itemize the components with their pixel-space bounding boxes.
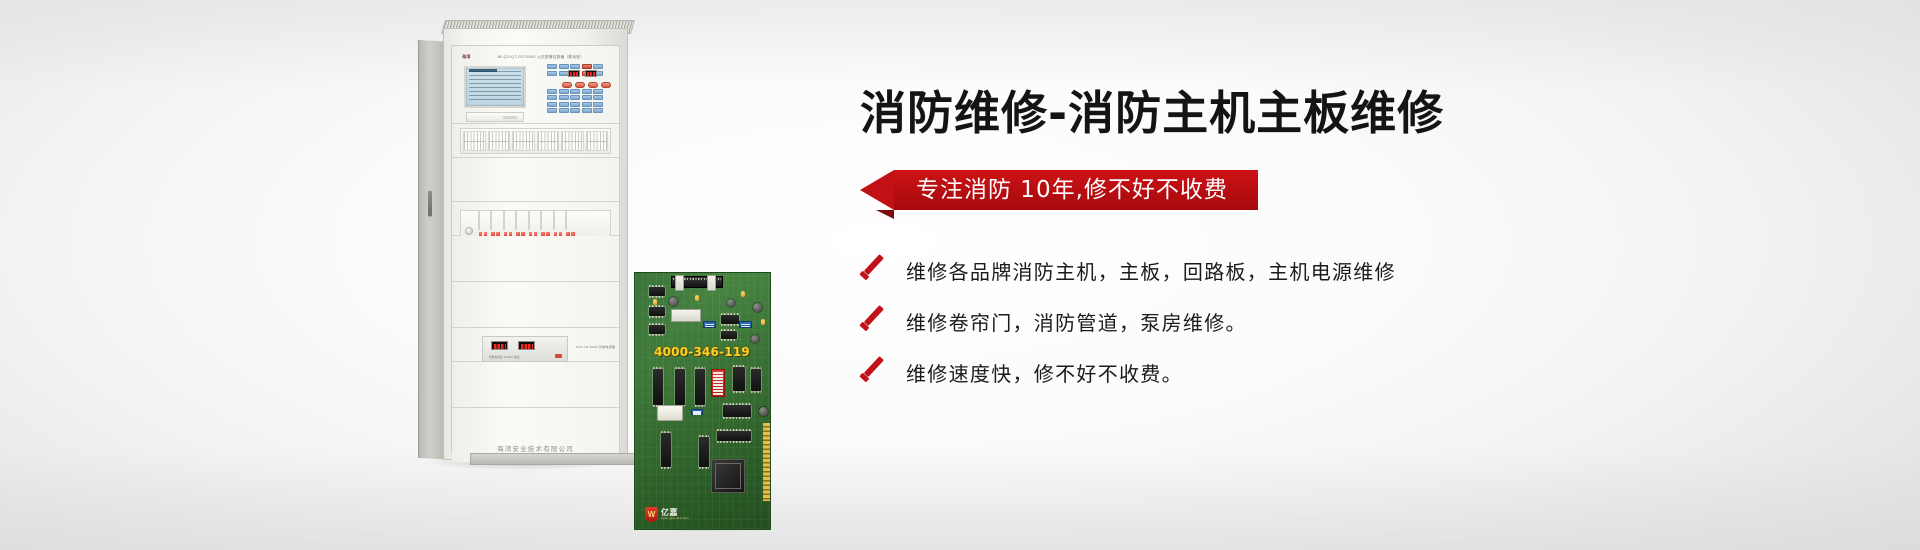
pcb-dip-switch-red — [711, 369, 725, 397]
cabinet-power-panel: 智能电源盘 DC24V 输出 — [482, 336, 568, 362]
power-reset-button[interactable] — [555, 354, 562, 358]
pcb-dip-switch-blue-2 — [739, 321, 752, 328]
cabinet-printer-slot — [466, 112, 524, 122]
check-icon — [860, 310, 886, 334]
cabinet-brand-label: 海湾 — [462, 54, 471, 60]
cabinet-selector-knob[interactable] — [465, 227, 473, 235]
banner-headline: 消防维修-消防主机主板维修 — [860, 90, 1680, 136]
pcb-socket-1 — [671, 309, 701, 322]
ribbon-fold-icon — [876, 210, 894, 219]
banner-ribbon: 专注消防 10年,修不好不收费 — [894, 170, 1258, 210]
bullet-item-3: 维修速度快，修不好不收费。 — [860, 358, 1680, 387]
cabinet-door-handle — [428, 191, 432, 217]
pcb-service-phone-number: 4000-346-119 — [647, 345, 757, 359]
cabinet-main-control-face: 海湾 JB-QG/QT-GST9000 火灾报警控制器（联动型） — [452, 46, 619, 124]
cabinet-company-name: 海湾安全技术有限公司 — [452, 443, 619, 453]
power-panel-label: 智能电源盘 DC24V 输出 — [489, 355, 520, 359]
pcb-resistor-1 — [653, 299, 657, 305]
pcb-capacitor-2 — [727, 299, 735, 307]
pcb-dip-switch-blue-1 — [703, 321, 716, 328]
cabinet-blank-face-1 — [452, 158, 619, 202]
pcb-ic-9 — [733, 367, 745, 391]
cabinet-relay-face — [452, 202, 619, 236]
pcb-ic-3 — [649, 325, 665, 334]
pcb-jumper-2 — [707, 275, 716, 291]
pcb-jumper-1 — [675, 275, 684, 291]
pcb-capacitor-3 — [753, 303, 762, 312]
pcb-watermark-logo: 亿嘉 www.yijia-119.com — [645, 507, 689, 522]
bullet-text-2: 维修卷帘门，消防管道，泵房维修。 — [906, 307, 1247, 336]
cabinet-blank-face-4 — [452, 362, 619, 408]
fire-alarm-mainboard-image: 4000-346-119 亿嘉 www. — [634, 272, 771, 530]
cabinet-led-readouts — [568, 70, 597, 77]
cabinet-blank-face-3 — [452, 282, 619, 328]
pcb-resistor-3 — [741, 291, 745, 297]
pcb-ic-7 — [675, 369, 685, 405]
pcb-dip-switch-blue-3 — [691, 409, 703, 415]
pcb-ic-13 — [699, 437, 709, 467]
cabinet-terminal-strip — [460, 128, 611, 154]
pcb-ic-11 — [723, 405, 751, 417]
cabinet-panel-frame: 海湾 JB-QG/QT-GST9000 火灾报警控制器（联动型） — [451, 45, 620, 453]
cabinet-function-buttons[interactable] — [562, 82, 611, 88]
ribbon-left-arrow-icon — [860, 170, 894, 210]
pcb-ic-14 — [717, 431, 751, 441]
cabinet-power-face: 智能电源盘 DC24V 输出 GST-LD-8300 智能电源箱 — [452, 328, 619, 362]
pcb-ic-5 — [721, 331, 737, 339]
pcb-resistor-2 — [695, 295, 699, 301]
cabinet-terminal-face — [452, 124, 619, 158]
pcb-ic-6 — [653, 369, 663, 405]
pcb-logo-tagline: www.yijia-119.com — [661, 517, 689, 520]
banner-ribbon-row: 专注消防 10年,修不好不收费 — [860, 170, 1680, 216]
banner-content: 消防维修-消防主机主板维修 专注消防 10年,修不好不收费 维修各品牌消防主机，… — [860, 90, 1680, 409]
pcb-capacitor-4 — [751, 335, 759, 343]
bullet-text-3: 维修速度快，修不好不收费。 — [906, 358, 1183, 387]
pcb-ic-1 — [649, 287, 665, 296]
pcb-logo-shield-icon — [645, 507, 658, 522]
fire-repair-banner: 海湾 JB-QG/QT-GST9000 火灾报警控制器（联动型） — [0, 0, 1920, 550]
pcb-gold-edge-connector — [763, 423, 770, 501]
cabinet-lcd-display — [464, 66, 526, 108]
pcb-resistor-4 — [761, 319, 765, 325]
power-led-readouts — [491, 341, 535, 350]
pcb-ic-12 — [661, 433, 671, 467]
pcb-crystal-oscillator — [657, 405, 683, 421]
pcb-cpu-chip — [711, 459, 745, 493]
pcb-ic-4 — [721, 315, 739, 324]
check-icon — [860, 361, 886, 385]
printed-circuit-board: 4000-346-119 亿嘉 www. — [634, 272, 771, 530]
banner-ribbon-text: 专注消防 10年,修不好不收费 — [916, 177, 1228, 203]
bullet-item-1: 维修各品牌消防主机，主板，回路板，主机电源维修 — [860, 256, 1680, 285]
pcb-capacitor-5 — [759, 407, 768, 416]
pcb-capacitor-1 — [669, 297, 678, 306]
pcb-ic-8 — [695, 369, 705, 405]
pcb-ic-2 — [649, 307, 665, 316]
bullet-item-2: 维修卷帘门，消防管道，泵房维修。 — [860, 307, 1680, 336]
power-model-label: GST-LD-8300 智能电源箱 — [576, 345, 615, 349]
pcb-ic-10 — [751, 369, 761, 391]
lcd-text-rows — [469, 71, 521, 103]
check-icon — [860, 259, 886, 283]
banner-bullet-list: 维修各品牌消防主机，主板，回路板，主机电源维修 维修卷帘门，消防管道，泵房维修。… — [860, 256, 1680, 387]
cabinet-plinth — [470, 453, 653, 465]
cabinet-blank-face-2 — [452, 236, 619, 282]
cabinet-model-label: JB-QG/QT-GST9000 火灾报警控制器（联动型） — [497, 55, 584, 60]
cabinet-body: 海湾 JB-QG/QT-GST9000 火灾报警控制器（联动型） — [443, 28, 628, 460]
fire-alarm-control-cabinet-image: 海湾 JB-QG/QT-GST9000 火灾报警控制器（联动型） — [418, 18, 628, 478]
bullet-text-1: 维修各品牌消防主机，主板，回路板，主机电源维修 — [906, 256, 1396, 285]
